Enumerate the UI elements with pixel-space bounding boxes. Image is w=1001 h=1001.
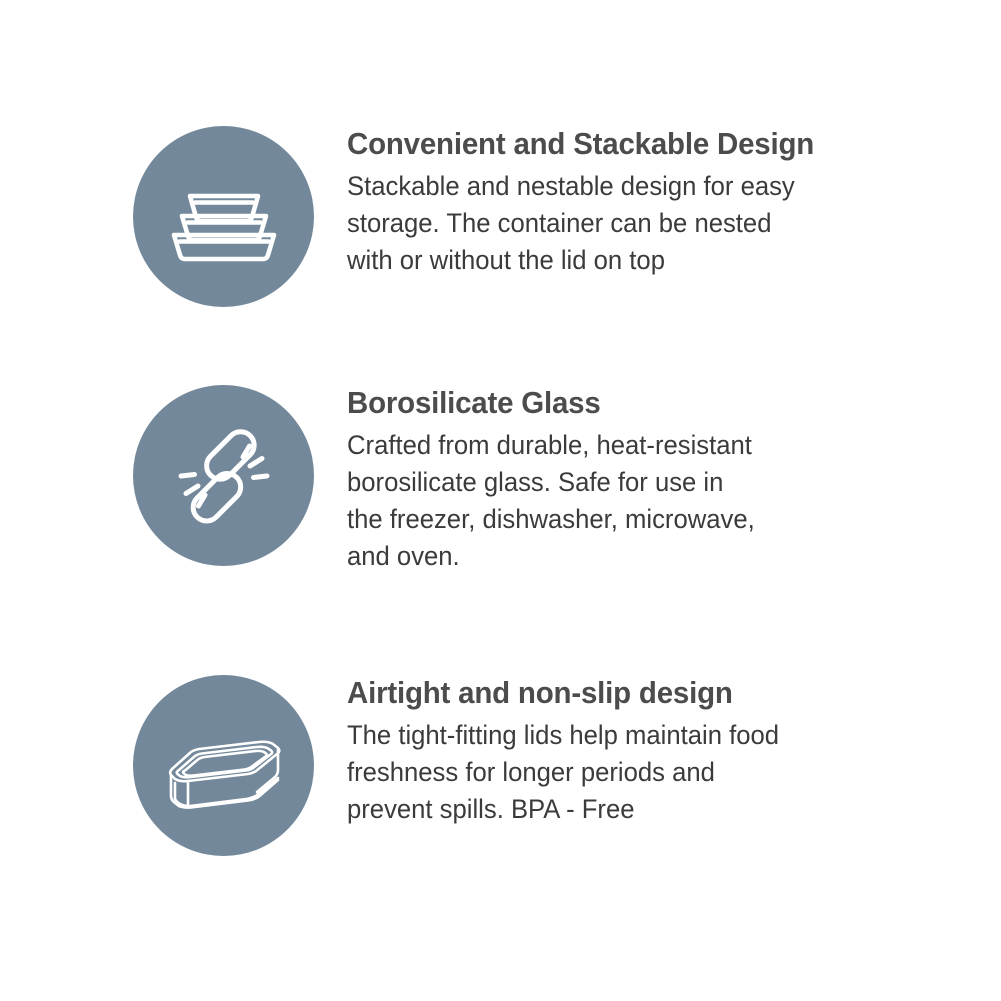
stacked-containers-icon [133,126,314,307]
feature-description-line: prevent spills. BPA - Free [347,791,851,828]
chain-link-icon [133,385,314,566]
feature-description-line: Crafted from durable, heat-resistant [347,427,851,464]
feature-description-line: The tight-fitting lids help maintain foo… [347,717,851,754]
lidded-container-icon [133,675,314,856]
feature-description-line: borosilicate glass. Safe for use in [347,464,851,501]
feature-title: Convenient and Stackable Design [347,126,851,162]
feature-description-line: freshness for longer periods and [347,754,851,791]
product-features-infographic: Convenient and Stackable Design Stackabl… [0,0,1001,1001]
feature-title: Borosilicate Glass [347,385,851,421]
feature-text-borosilicate-glass: Borosilicate Glass Crafted from durable,… [347,385,877,575]
feature-description-line: and oven. [347,538,851,575]
feature-description-line: with or without the lid on top [347,242,851,279]
feature-block-borosilicate-glass: Borosilicate Glass Crafted from durable,… [0,385,1001,575]
feature-text-stackable-design: Convenient and Stackable Design Stackabl… [347,126,877,279]
feature-description-line: the freezer, dishwasher, microwave, [347,501,851,538]
feature-description-line: storage. The container can be nested [347,205,851,242]
feature-block-airtight-design: Airtight and non-slip design The tight-f… [0,675,1001,856]
feature-description-line: Stackable and nestable design for easy [347,168,851,205]
feature-block-stackable-design: Convenient and Stackable Design Stackabl… [0,126,1001,307]
feature-description: Crafted from durable, heat-resistant bor… [347,427,851,575]
feature-text-airtight-design: Airtight and non-slip design The tight-f… [347,675,877,828]
feature-description: The tight-fitting lids help maintain foo… [347,717,851,828]
feature-description: Stackable and nestable design for easy s… [347,168,851,279]
feature-title: Airtight and non-slip design [347,675,851,711]
